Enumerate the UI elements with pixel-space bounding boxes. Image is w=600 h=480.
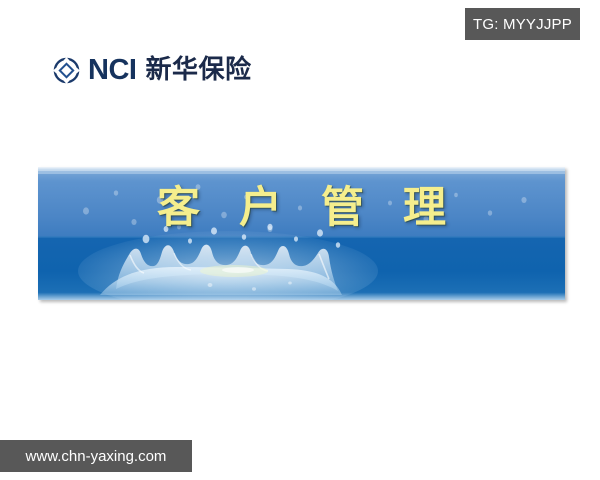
brand-logo: NCI 新华保险 [52,50,251,90]
water-crown-splash-graphic [38,167,565,300]
site-url-text: www.chn-yaxing.com [26,448,167,465]
tg-watermark-badge: TG: MYYJJPP [465,8,580,40]
site-url-watermark: www.chn-yaxing.com [0,440,192,472]
section-banner: 客 户 管 理 [38,167,565,300]
brand-logo-latin-text: NCI [88,56,136,85]
tg-watermark-text: TG: MYYJJPP [473,16,572,33]
nci-circular-diamond-mark-icon [52,56,81,85]
brand-logo-chinese-text: 新华保险 [145,57,251,83]
